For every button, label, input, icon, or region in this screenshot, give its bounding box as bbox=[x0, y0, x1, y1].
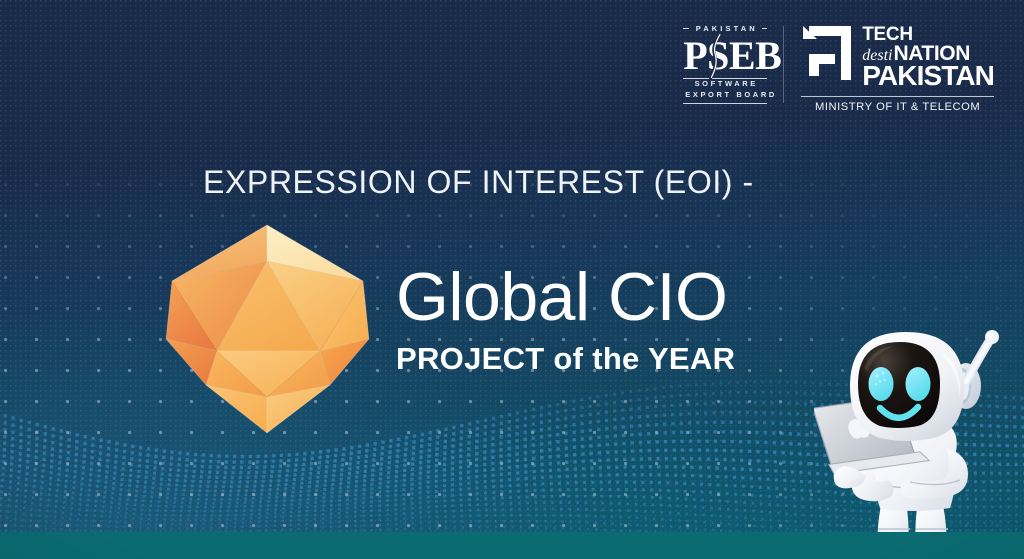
robot-mascot bbox=[814, 324, 1024, 559]
pseb-wordmark-text: PSEB bbox=[683, 33, 781, 78]
tdp-lockup: TECH desti NATION PAKISTAN bbox=[801, 24, 994, 90]
logo-bar: PAKISTAN PSEB SOFTWARE EXPORT BOARD bbox=[683, 24, 994, 113]
pseb-bottom-line-2: EXPORT BOARD bbox=[683, 90, 767, 101]
pseb-top-text: PAKISTAN bbox=[693, 24, 758, 33]
tech-destination-mark-icon bbox=[801, 24, 853, 81]
rule-left bbox=[683, 28, 688, 29]
tdp-pakistan-text: PAKISTAN bbox=[862, 62, 994, 90]
tdp-rule bbox=[801, 96, 994, 97]
tech-destination-pakistan-logo: TECH desti NATION PAKISTAN MINISTRY OF I… bbox=[784, 24, 994, 113]
page-subtitle: PROJECT of the YEAR bbox=[396, 341, 735, 377]
rule-right bbox=[762, 28, 767, 29]
eoi-banner: PAKISTAN PSEB SOFTWARE EXPORT BOARD bbox=[0, 0, 1024, 559]
tdp-wordmark: TECH desti NATION PAKISTAN bbox=[862, 24, 994, 90]
tdp-ministry-text: MINISTRY OF IT & TELECOM bbox=[801, 101, 994, 113]
pseb-wordmark: PSEB bbox=[683, 36, 767, 76]
eoi-subtitle: EXPRESSION OF INTEREST (EOI) - bbox=[203, 164, 754, 201]
bottom-teal-strip bbox=[0, 532, 1024, 559]
page-title: Global CIO bbox=[396, 263, 735, 331]
title-block: Global CIO PROJECT of the YEAR bbox=[396, 263, 735, 377]
pseb-bottom-rule-bottom bbox=[683, 103, 767, 104]
pseb-logo: PAKISTAN PSEB SOFTWARE EXPORT BOARD bbox=[683, 24, 783, 104]
pseb-bottom-block: SOFTWARE EXPORT BOARD bbox=[683, 78, 767, 104]
pseb-top-rule-row: PAKISTAN bbox=[683, 24, 767, 33]
icosahedron-logo bbox=[160, 219, 375, 439]
pseb-bottom-line-1: SOFTWARE bbox=[683, 79, 767, 90]
